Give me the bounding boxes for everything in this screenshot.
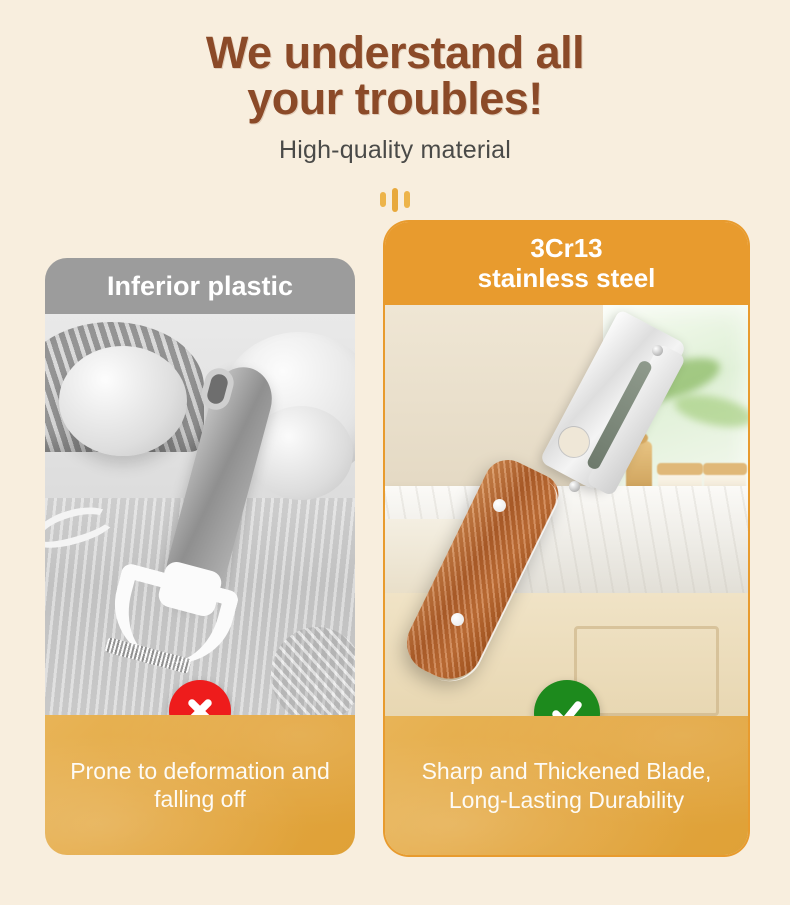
caption-text: Prone to deformation and falling off xyxy=(70,757,330,813)
comparison-card-stainless-steel[interactable]: 3Cr13 stainless steel xyxy=(385,222,748,855)
caption-line-1: Sharp and Thickened Blade, xyxy=(422,758,712,784)
comparison-card-inferior-plastic[interactable]: Inferior plastic xyxy=(45,258,355,855)
card-header-inferior-plastic: Inferior plastic xyxy=(45,258,355,314)
card-header-label: 3Cr13 stainless steel xyxy=(478,234,656,292)
divider-bar-3 xyxy=(404,191,410,208)
divider-bar-1 xyxy=(380,192,386,207)
headline-line-2: your troubles! xyxy=(0,76,790,122)
page-subtitle: High-quality material xyxy=(0,136,790,165)
card-caption-stainless-steel: Sharp and Thickened Blade, Long-Lasting … xyxy=(385,716,748,855)
card-caption-inferior-plastic: Prone to deformation and falling off xyxy=(45,715,355,855)
steel-peeler xyxy=(407,311,727,711)
product-photo-inferior-plastic xyxy=(45,314,355,715)
card-header-stainless-steel: 3Cr13 stainless steel xyxy=(385,222,748,305)
page-header: We understand all your troubles! High-qu… xyxy=(0,0,790,213)
photo-scene-color xyxy=(385,305,748,716)
divider-bar-2 xyxy=(392,188,398,212)
steel-peeler-rivet-top xyxy=(652,345,663,356)
photo-jar xyxy=(271,627,355,715)
product-photo-stainless-steel xyxy=(385,305,748,716)
steel-peeler-rivet-mid xyxy=(569,481,580,492)
photo-scene-grayscale xyxy=(45,314,355,715)
caption-line-1: Prone to deformation and xyxy=(70,758,330,784)
photo-potato-1 xyxy=(59,346,187,456)
caption-text: Sharp and Thickened Blade, Long-Lasting … xyxy=(422,757,712,813)
caption-line-2: falling off xyxy=(154,786,246,812)
caption-line-2: Long-Lasting Durability xyxy=(449,787,684,813)
card-header-label: Inferior plastic xyxy=(107,271,293,301)
card-header-line-1: 3Cr13 xyxy=(530,233,602,263)
card-header-line-2: stainless steel xyxy=(478,263,656,293)
divider-bars-icon xyxy=(365,187,425,213)
headline-line-1: We understand all xyxy=(206,27,584,78)
page-title: We understand all your troubles! xyxy=(0,30,790,122)
steel-peeler-handle-rivet-2 xyxy=(451,613,464,626)
steel-peeler-handle-edge xyxy=(395,455,564,692)
steel-peeler-handle-rivet-1 xyxy=(493,499,506,512)
